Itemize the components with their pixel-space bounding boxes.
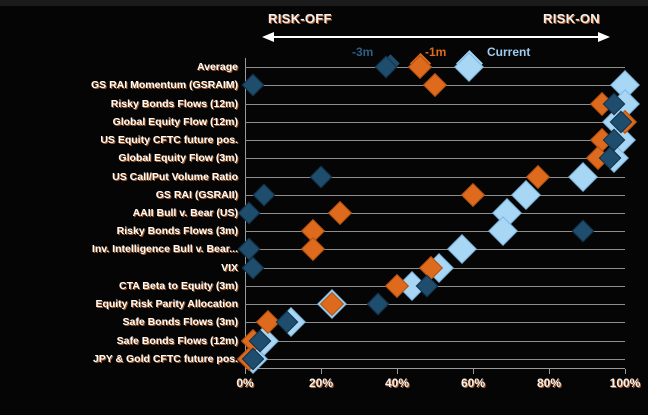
gridline — [245, 104, 625, 105]
data-point — [310, 165, 333, 188]
data-point — [461, 183, 485, 207]
category-label: Risky Bonds Flows (3m) — [117, 225, 238, 237]
gridline — [245, 122, 625, 123]
x-axis-tick-label: 60% — [461, 376, 485, 390]
gridline — [245, 359, 625, 360]
category-label: US Equity CFTC future pos. — [100, 134, 238, 146]
data-point — [301, 237, 325, 261]
category-label: Inv. Intelligence Bull v. Bear... — [92, 243, 238, 255]
chart-canvas: RISK-OFF RISK-ON -3m -1m Current Average… — [0, 0, 648, 415]
x-axis-tick-label: 80% — [537, 376, 561, 390]
data-point — [374, 56, 397, 79]
x-axis-tick — [625, 369, 626, 374]
plot-area: 0%20%40%60%80%100% — [245, 58, 625, 368]
x-axis-tick — [321, 369, 322, 374]
gridline — [245, 213, 625, 214]
x-axis-tick-label: 40% — [385, 376, 409, 390]
x-axis-tick — [473, 369, 474, 374]
gridline — [245, 304, 625, 305]
x-axis-tick — [549, 369, 550, 374]
data-point — [447, 235, 477, 265]
category-label: Safe Bonds Flows (3m) — [122, 316, 238, 328]
data-point — [367, 293, 390, 316]
gridline — [245, 140, 625, 141]
gridline — [245, 341, 625, 342]
x-axis-tick-label: 0% — [236, 376, 253, 390]
category-label: GS RAI Momentum (GSRAIM) — [91, 79, 238, 91]
gridline — [245, 67, 625, 68]
category-label: JPY & Gold CFTC future pos. — [93, 353, 238, 365]
x-axis-tick — [245, 369, 246, 374]
category-label: Average — [197, 61, 238, 73]
x-axis-tick — [397, 369, 398, 374]
data-point — [253, 183, 276, 206]
category-label: Equity Risk Parity Allocation — [95, 298, 238, 310]
data-point — [572, 220, 595, 243]
x-axis-tick-label: 100% — [610, 376, 641, 390]
x-axis-tick-label: 20% — [309, 376, 333, 390]
category-label: Risky Bonds Flows (12m) — [111, 98, 238, 110]
x-axis-line — [245, 368, 625, 369]
category-label: CTA Beta to Equity (3m) — [119, 280, 238, 292]
gridline — [245, 195, 625, 196]
category-label: Safe Bonds Flows (12m) — [117, 335, 238, 347]
category-label: US Call/Put Volume Ratio — [112, 171, 238, 183]
category-label: AAII Bull v. Bear (US) — [133, 207, 238, 219]
gridline — [245, 158, 625, 159]
data-point — [328, 201, 352, 225]
data-point — [408, 55, 432, 79]
category-label: Global Equity Flow (3m) — [118, 152, 238, 164]
category-label: Global Equity Flow (12m) — [113, 116, 238, 128]
category-label: VIX — [221, 262, 238, 274]
data-point — [423, 73, 447, 97]
category-label: GS RAI (GSRAII) — [156, 189, 238, 201]
